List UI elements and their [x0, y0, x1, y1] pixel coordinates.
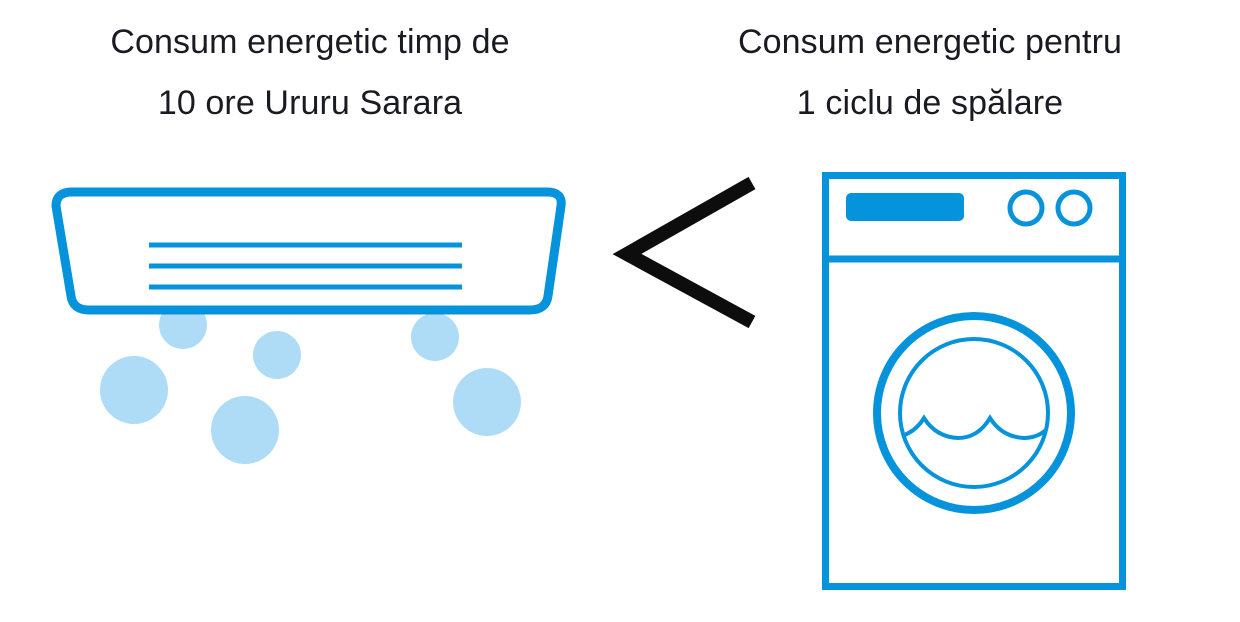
water-bubble-icon [211, 396, 279, 464]
air-conditioner-body [56, 192, 561, 310]
control-dial-icon [1058, 192, 1090, 224]
left-title-line-1: Consum energetic timp de [0, 12, 620, 73]
right-title-line-2: 1 ciclu de spălare [620, 73, 1240, 134]
door-inner-ring [900, 339, 1048, 487]
washing-machine-illustration [800, 155, 1150, 605]
comparison-operator [600, 160, 780, 340]
left-title-line-2: 10 ore Ururu Sarara [0, 73, 620, 134]
control-dial-icon [1010, 192, 1042, 224]
left-title: Consum energetic timp de 10 ore Ururu Sa… [0, 12, 620, 133]
water-bubble-icon [453, 368, 521, 436]
water-bubble-icon [411, 313, 459, 361]
right-title-line-1: Consum energetic pentru [620, 12, 1240, 73]
air-conditioner-illustration [30, 160, 590, 490]
water-bubble-icon [100, 356, 168, 424]
right-title: Consum energetic pentru 1 ciclu de spăla… [620, 12, 1240, 133]
display-bar [846, 193, 964, 221]
less-than-chevron-icon [627, 183, 752, 322]
comparison-infographic: Consum energetic timp de 10 ore Ururu Sa… [0, 0, 1240, 622]
water-bubble-icon [253, 331, 301, 379]
